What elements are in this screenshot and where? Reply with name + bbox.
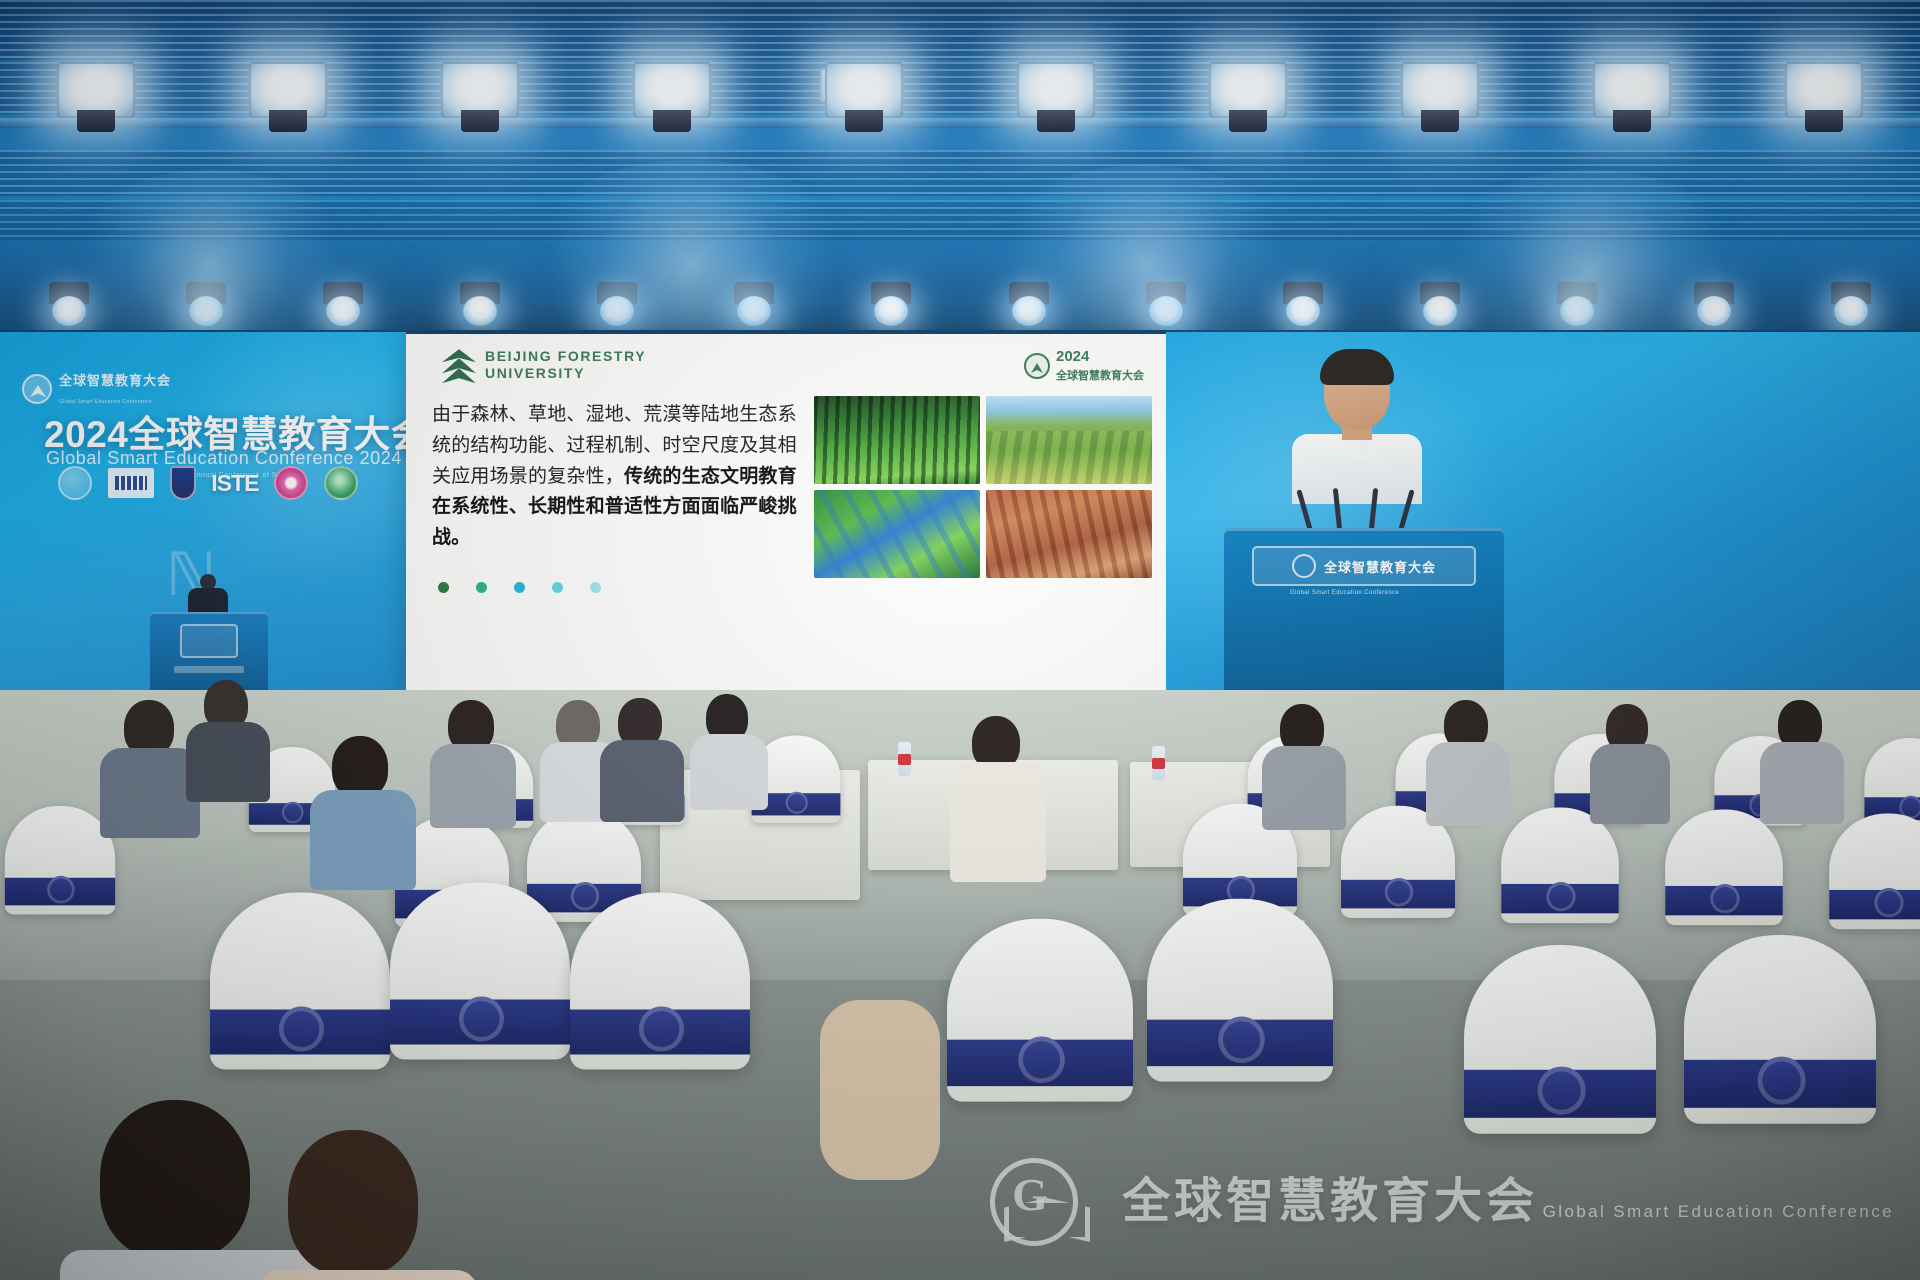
progress-dot[interactable] [590,582,601,593]
watermark-title-en: Global Smart Education Conference [1543,1202,1894,1221]
moving-head-light [43,282,95,328]
banner-podium-graphic: ℕ [150,554,268,700]
moving-head-light [1414,282,1466,328]
watermark-title-cn: 全球智慧教育大会 [1122,1175,1538,1228]
banner-logo-text: 全球智慧教育大会 [59,373,171,388]
moving-head-light [1277,282,1329,328]
stage-light-row-upper [0,62,1920,118]
bfu-name-line2: UNIVERSITY [485,365,585,381]
conference-photo: 全球智慧教育大会 Global Smart Education Conferen… [0,0,1920,1280]
moving-head-light [1825,282,1877,328]
conference-emblem-icon [1292,554,1316,578]
badge-year: 2024 [1056,348,1089,365]
audience-chair [1147,899,1333,1132]
slide-conference-badge: 2024 全球智慧教育大会 [1024,348,1144,384]
conference-emblem-icon [22,374,52,404]
sponsor-green-icon [324,466,358,500]
moving-head-light [728,282,780,328]
sponsor-unesco-circle-icon [58,466,92,500]
podium-logo-sub: Global Smart Education Conference [1290,590,1399,596]
stage-light [1209,62,1287,118]
stage-light [825,62,903,118]
photo-forest [814,396,980,484]
sponsor-shield-icon [170,466,196,500]
moving-head-light [317,282,369,328]
stage-light [633,62,711,118]
water-bottle [1152,746,1165,780]
stage-light [1017,62,1095,118]
left-banner: 全球智慧教育大会 Global Smart Education Conferen… [0,332,406,700]
moving-head-light [1551,282,1603,328]
slide-progress-dots[interactable] [438,582,601,593]
badge-name: 全球智慧教育大会 [1056,370,1144,382]
progress-dot[interactable] [514,582,525,593]
slide-image-grid [814,396,1152,578]
presentation-slide: BEIJING FORESTRY UNIVERSITY 2024 全球智慧教育大… [406,334,1166,700]
photo-grassland [986,396,1152,484]
audience-chair [947,919,1133,1152]
bfu-logo: BEIJING FORESTRY UNIVERSITY [442,348,646,383]
audience-chair [390,883,570,1108]
watermark: G 全球智慧教育大会 Global Smart Education Confer… [986,1154,1894,1250]
water-bottle [898,742,911,776]
photo-desert [986,490,1152,578]
moving-head-light [1688,282,1740,328]
moving-head-light [454,282,506,328]
moving-head-light [1003,282,1055,328]
audience-chair [1501,808,1619,955]
truss-band [0,150,1920,196]
moving-head-light [865,282,917,328]
tree-icon [442,349,476,381]
speaker-video-feed: 全球智慧教育大会 Global Smart Education Conferen… [1166,332,1920,700]
audience-chair [5,806,115,944]
audience-chair [1341,806,1455,949]
stage-light [57,62,135,118]
watermark-letter: G [1012,1168,1048,1221]
stage-light [1593,62,1671,118]
truss-band [0,200,1920,240]
audience-chair [1464,945,1656,1185]
podium: 全球智慧教育大会 Global Smart Education Conferen… [1224,528,1504,700]
sponsor-pink-icon [274,466,308,500]
podium-logo-text: 全球智慧教育大会 [1324,557,1436,576]
stage-light [249,62,327,118]
audience-chair [570,893,750,1118]
progress-dot[interactable] [552,582,563,593]
stage-light [1785,62,1863,118]
sponsor-unesco-icon [108,466,154,500]
photo-wetland [814,490,980,578]
moving-head-light [180,282,232,328]
truss-band [0,0,1920,60]
audience-chair [210,893,390,1118]
progress-dot[interactable] [438,582,449,593]
conference-emblem-icon [1024,353,1050,379]
conference-logo-icon: G [986,1154,1106,1250]
moving-head-light [1140,282,1192,328]
audience-chair [1684,935,1876,1175]
bfu-name-line1: BEIJING FORESTRY [485,348,646,364]
moving-head-light [591,282,643,328]
stage-light [1401,62,1479,118]
slide-paragraph: 由于森林、草地、湿地、荒漠等陆地生态系统的结构功能、过程机制、时空尺度及其相关应… [432,400,802,554]
sponsor-logo-row: ISTE [58,460,358,506]
moving-head-row [0,282,1920,328]
stage-light [441,62,519,118]
progress-dot[interactable] [476,582,487,593]
banner-logo: 全球智慧教育大会 Global Smart Education Conferen… [22,370,171,408]
sponsor-iste-logo: ISTE [211,466,258,500]
